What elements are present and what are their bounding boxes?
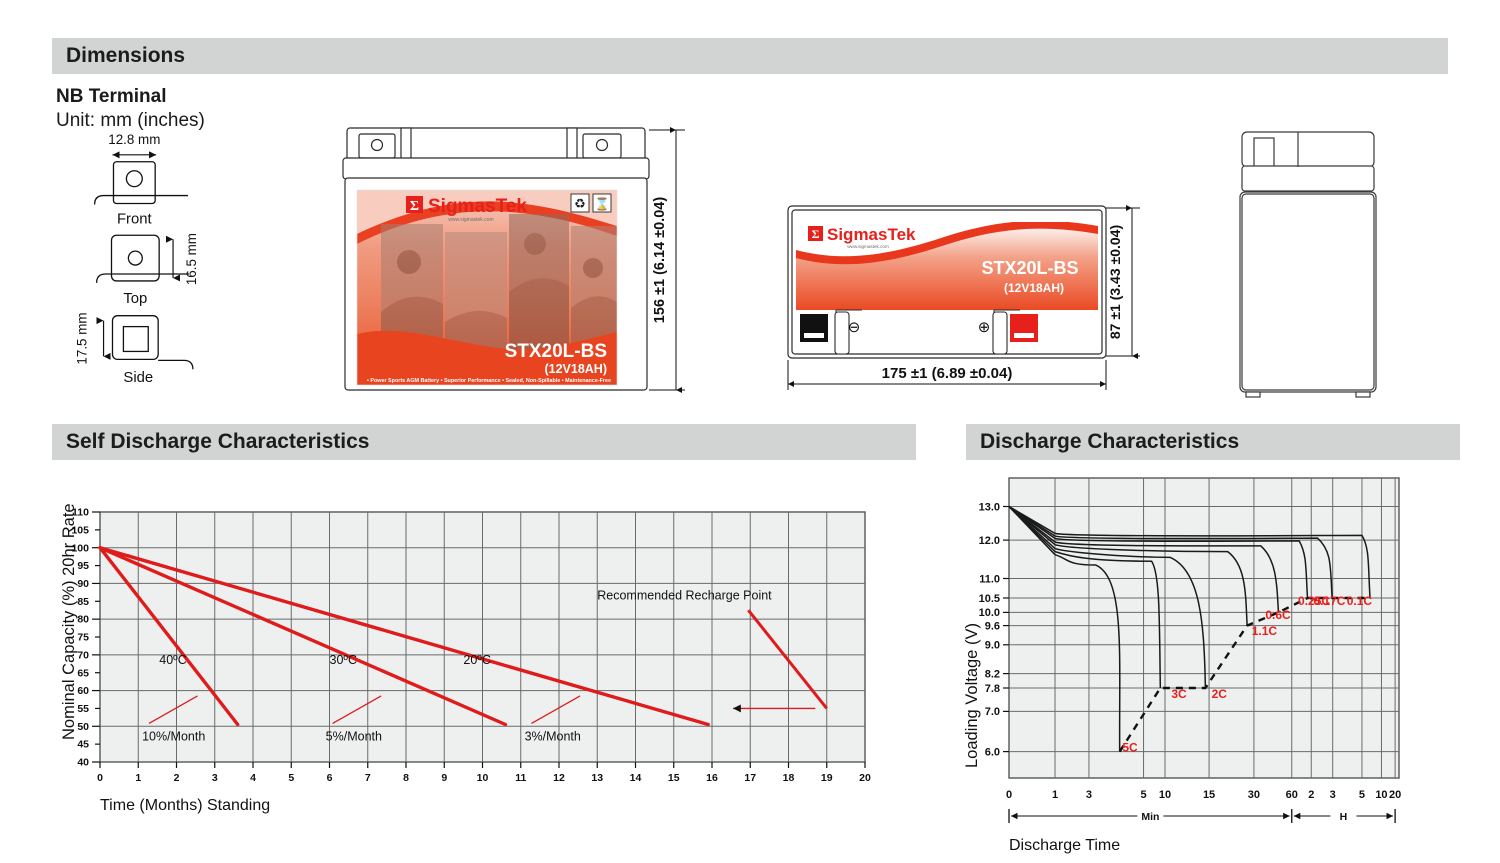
self-discharge-ytick: 90: [77, 578, 89, 590]
self-discharge-ytick: 80: [77, 614, 89, 626]
self-discharge-ytick: 55: [77, 703, 89, 715]
sigma-icon: Σ: [410, 199, 419, 214]
self-discharge-xtick: 0: [97, 772, 103, 784]
discharge-chart: Loading Voltage (V) 6.07.07.88.29.09.610…: [955, 468, 1425, 858]
self-discharge-ytick: 70: [77, 649, 89, 661]
view-label-side: Side: [123, 370, 153, 386]
battery-rating-side: (12V18AH): [1004, 281, 1064, 295]
section-title-self-discharge: Self Discharge Characteristics: [66, 430, 369, 454]
self-discharge-xtick: 9: [441, 772, 447, 784]
discharge-xtick: 5: [1359, 789, 1365, 801]
positive-symbol: ⊕: [978, 319, 991, 336]
discharge-xtick: 0: [1006, 789, 1012, 801]
self-discharge-ytick: 95: [77, 560, 89, 572]
self-discharge-xtick: 3: [212, 772, 218, 784]
discharge-xtick: 3: [1330, 789, 1336, 801]
negative-terminal-block: [800, 314, 828, 342]
battery-case-height-dim: 87 ±1 (3.43 ±0.04): [1107, 225, 1123, 339]
discharge-ytick: 12.0: [979, 535, 1000, 547]
rate-label: 3%/Month: [525, 730, 581, 744]
terminal-height-text: 17.5 mm: [75, 312, 90, 364]
self-discharge-ytick: 40: [77, 757, 89, 769]
section-title-discharge: Discharge Characteristics: [980, 430, 1239, 454]
brand-name-side: SigmasTek: [827, 225, 916, 244]
unit-label: Unit: mm (inches): [56, 110, 205, 132]
discharge-ylabel: Loading Voltage (V): [963, 623, 981, 768]
discharge-ytick: 10.5: [979, 593, 1000, 605]
self-discharge-ytick: 45: [77, 739, 89, 751]
discharge-ytick: 9.0: [985, 640, 1000, 652]
terminal-width-text: 12.8 mm: [108, 132, 160, 147]
self-discharge-xtick: 14: [630, 772, 642, 784]
section-header-discharge: Discharge Characteristics: [966, 424, 1460, 460]
discharge-ytick: 9.6: [985, 620, 1000, 632]
self-discharge-ytick: 60: [77, 685, 89, 697]
discharge-rate-label: 0.17C: [1313, 594, 1345, 608]
battery-end-view: [1228, 126, 1398, 401]
temp-label: 40ºC: [159, 653, 187, 667]
battery-length-dim: 175 ±1 (6.89 ±0.04): [882, 365, 1013, 382]
discharge-xtick: 2: [1308, 789, 1314, 801]
discharge-ytick: 7.8: [985, 683, 1000, 695]
self-discharge-ytick: 105: [71, 524, 89, 536]
discharge-rate-label: 3C: [1171, 687, 1187, 701]
discharge-ytick: 8.2: [985, 668, 1000, 680]
discharge-rate-label: 1.1C: [1252, 624, 1278, 638]
battery-height-dim: 156 ±1 (6.14 ±0.04): [652, 197, 668, 324]
self-discharge-xtick: 15: [668, 772, 680, 784]
discharge-ytick: 7.0: [985, 706, 1000, 718]
battery-model-side: STX20L-BS: [981, 258, 1078, 278]
self-discharge-xtick: 2: [174, 772, 180, 784]
self-discharge-xtick: 5: [288, 772, 294, 784]
section-header-self-discharge: Self Discharge Characteristics: [52, 424, 916, 460]
axis-span-hour: H: [1340, 811, 1348, 823]
brand-name: SigmasTek: [428, 196, 527, 217]
self-discharge-xtick: 16: [706, 772, 718, 784]
sigma-icon-side: Σ: [812, 227, 820, 241]
self-discharge-xtick: 19: [821, 772, 833, 784]
self-discharge-ytick: 85: [77, 596, 89, 608]
discharge-rate-label: 5C: [1122, 741, 1138, 755]
discharge-xtick: 15: [1203, 789, 1215, 801]
self-discharge-xtick: 1: [135, 772, 141, 784]
self-discharge-chart: Nominal Capacity (%) 20hr Rate 404550556…: [52, 480, 922, 830]
self-discharge-xtick: 18: [783, 772, 795, 784]
self-discharge-ytick: 100: [71, 542, 89, 554]
discharge-rate-label: 0.1C: [1347, 594, 1373, 608]
self-discharge-xlabel: Time (Months) Standing: [100, 797, 270, 814]
brand-website: www.sigmastek.com: [448, 217, 493, 223]
section-title-dimensions: Dimensions: [66, 44, 185, 68]
self-discharge-xtick: 8: [403, 772, 409, 784]
battery-front-view: Σ SigmasTek www.sigmastek.com ♻ ⌛ STX20L…: [335, 122, 715, 400]
rate-label: 5%/Month: [326, 730, 382, 744]
discharge-rate-label: 2C: [1212, 687, 1228, 701]
view-label-top: Top: [123, 291, 147, 307]
discharge-xtick: 1: [1052, 789, 1058, 801]
self-discharge-xtick: 11: [515, 772, 526, 784]
temp-label: 30ºC: [330, 653, 358, 667]
axis-span-min: Min: [1141, 811, 1159, 823]
self-discharge-xtick: 7: [365, 772, 371, 784]
discharge-xtick: 5: [1140, 789, 1146, 801]
self-discharge-xtick: 4: [250, 772, 256, 784]
recommended-recharge-annotation: Recommended Recharge Point: [597, 589, 772, 603]
discharge-rate-label: 0.6C: [1265, 608, 1291, 622]
discharge-ytick: 6.0: [985, 746, 1000, 758]
self-discharge-xtick: 13: [591, 772, 603, 784]
battery-model-front: STX20L-BS: [505, 341, 607, 362]
discharge-xtick: 10: [1159, 789, 1171, 801]
battery-tagline: • Power Sports AGM Battery • Superior Pe…: [367, 378, 611, 384]
self-discharge-ytick: 50: [77, 721, 89, 733]
view-label-front: Front: [117, 211, 153, 227]
terminal-drawings: 12.8 mm Front 16.5 mm Top: [56, 132, 306, 412]
self-discharge-xtick: 20: [859, 772, 871, 784]
nb-terminal-label: NB Terminal: [56, 86, 167, 108]
negative-symbol: ⊖: [848, 319, 861, 336]
temp-label: 20ºC: [463, 653, 491, 667]
self-discharge-xtick: 10: [477, 772, 489, 784]
terminal-depth-text: 16.5 mm: [184, 233, 199, 285]
weee-glyph: ⌛: [595, 197, 610, 211]
discharge-xtick: 30: [1248, 789, 1260, 801]
discharge-xtick: 10: [1375, 789, 1387, 801]
recycle-glyph: ♻: [574, 196, 586, 211]
discharge-xtick: 20: [1389, 789, 1401, 801]
rate-label: 10%/Month: [142, 730, 205, 744]
discharge-xtick: 60: [1286, 789, 1298, 801]
section-header-dimensions: Dimensions: [52, 38, 1448, 74]
self-discharge-ytick: 65: [77, 667, 89, 679]
self-discharge-xtick: 6: [327, 772, 333, 784]
self-discharge-ytick: 110: [72, 507, 89, 519]
positive-terminal-block: [1010, 314, 1038, 342]
self-discharge-xtick: 17: [744, 772, 756, 784]
battery-rating-front: (12V18AH): [544, 362, 607, 376]
discharge-ytick: 11.0: [979, 573, 1000, 585]
battery-side-view: Σ SigmasTek www.sigmastek.com STX20L-BS …: [782, 196, 1162, 401]
discharge-xtick: 3: [1086, 789, 1092, 801]
self-discharge-xtick: 12: [553, 772, 565, 784]
self-discharge-ylabel: Nominal Capacity (%) 20hr Rate: [60, 503, 78, 740]
discharge-ytick: 10.0: [979, 607, 1000, 619]
discharge-xlabel: Discharge Time: [1009, 837, 1120, 854]
brand-website-side: www.sigmastek.com: [847, 244, 889, 249]
self-discharge-ytick: 75: [77, 632, 89, 644]
discharge-ytick: 13.0: [979, 501, 1000, 513]
